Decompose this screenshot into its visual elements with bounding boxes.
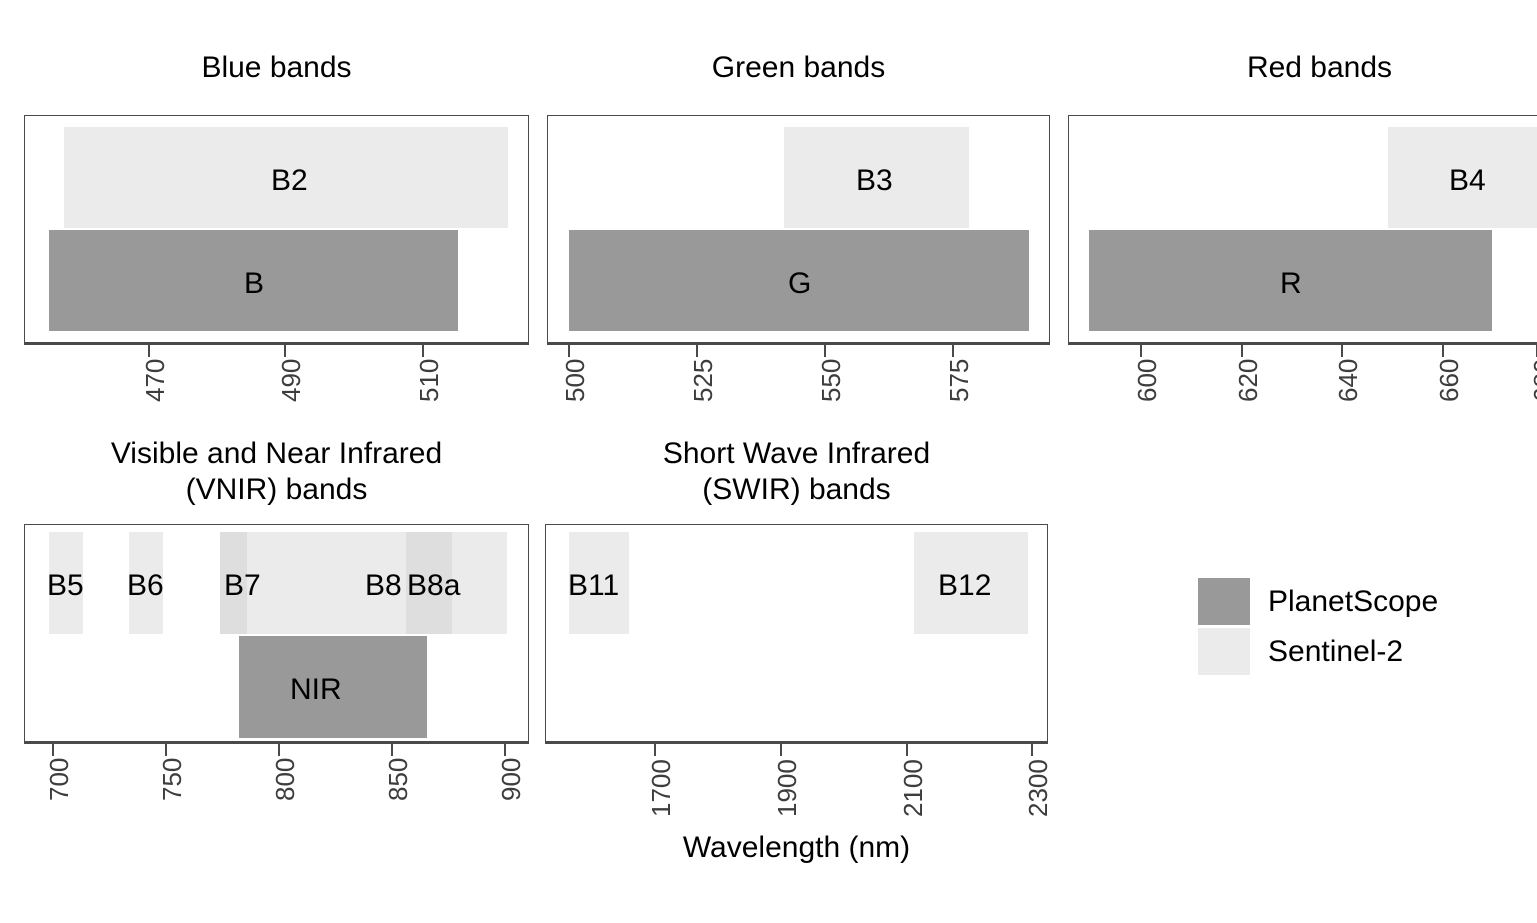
- panel-vnir-plot-area: B5 B6 B7 B8 B8a NIR: [24, 524, 529, 742]
- panel-red-plot-area: B4 R: [1068, 115, 1537, 343]
- panel-green-ticklabel-550: 550: [816, 359, 847, 402]
- panel-blue-tick-470: [148, 343, 150, 357]
- panel-green-axis-line: [547, 343, 1050, 345]
- band-label-B: B: [244, 269, 264, 299]
- panel-green-ticklabel-575: 575: [944, 359, 975, 402]
- panel-green-plot-area: B3 G: [547, 115, 1050, 343]
- band-label-B2: B2: [271, 166, 308, 196]
- panel-swir-tick-1700: [654, 742, 656, 756]
- panel-swir-tick-2100: [906, 742, 908, 756]
- panel-blue-title: Blue bands: [24, 50, 529, 86]
- panel-swir-title: Short Wave Infrared (SWIR) bands: [545, 436, 1048, 508]
- panel-vnir-tick-700: [52, 742, 54, 756]
- panel-blue-plot-area: B2 B: [24, 115, 529, 343]
- panel-swir-ticklabel-1900: 1900: [772, 759, 803, 817]
- band-label-B3: B3: [856, 166, 893, 196]
- panel-vnir-tick-850: [391, 742, 393, 756]
- panel-vnir-tick-800: [278, 742, 280, 756]
- panel-green-tick-500: [568, 343, 570, 357]
- panel-red-axis-line: [1068, 343, 1537, 345]
- panel-vnir-ticklabel-900: 900: [496, 758, 527, 801]
- panel-swir-tick-2300: [1031, 742, 1033, 756]
- panel-green-ticklabel-500: 500: [560, 359, 591, 402]
- panel-red-tick-640: [1341, 343, 1343, 357]
- panel-green-ticklabel-525: 525: [688, 359, 719, 402]
- band-label-B7: B7: [224, 571, 261, 601]
- panel-red-ticklabel-680-clipped: 680: [1528, 359, 1537, 402]
- band-label-B8a: B8a: [407, 571, 460, 601]
- panel-green-tick-575: [952, 343, 954, 357]
- panel-red-ticklabel-640: 640: [1333, 359, 1364, 402]
- panel-red-tick-600: [1140, 343, 1142, 357]
- panel-blue-ticklabel-490: 490: [276, 359, 307, 402]
- panel-swir-tick-1900: [780, 742, 782, 756]
- panel-vnir-tick-750: [165, 742, 167, 756]
- panel-blue-tick-490: [284, 343, 286, 357]
- panel-red-tick-620: [1241, 343, 1243, 357]
- band-label-NIR: NIR: [290, 675, 342, 705]
- panel-green-title: Green bands: [547, 50, 1050, 86]
- band-label-B12: B12: [938, 571, 991, 601]
- panel-swir-ticklabel-2100: 2100: [898, 759, 929, 817]
- panel-blue-axis-line: [24, 343, 529, 345]
- panel-vnir-ticklabel-750: 750: [157, 758, 188, 801]
- legend-swatch-sentinel2: [1198, 628, 1250, 675]
- legend: PlanetScope Sentinel-2: [1198, 578, 1528, 678]
- panel-swir-ticklabel-1700: 1700: [646, 759, 677, 817]
- band-label-R: R: [1280, 269, 1302, 299]
- panel-red-title: Red bands: [1068, 50, 1537, 86]
- band-label-B8: B8: [365, 571, 402, 601]
- x-axis-title: Wavelength (nm): [545, 833, 1048, 863]
- band-label-B6: B6: [127, 571, 164, 601]
- panel-swir-ticklabel-2300: 2300: [1023, 759, 1054, 817]
- panel-vnir-ticklabel-700: 700: [44, 758, 75, 801]
- panel-red-ticklabel-620: 620: [1233, 359, 1264, 402]
- panel-vnir-tick-900: [504, 742, 506, 756]
- band-label-B5: B5: [47, 571, 84, 601]
- panel-blue-tick-510: [422, 343, 424, 357]
- band-label-B4: B4: [1449, 166, 1486, 196]
- panel-red-tick-660: [1442, 343, 1444, 357]
- panel-vnir-axis-line: [24, 742, 529, 744]
- panel-red-ticklabel-600: 600: [1132, 359, 1163, 402]
- panel-swir-plot-area: B11 B12: [545, 524, 1048, 742]
- panel-green-tick-525: [696, 343, 698, 357]
- panel-swir-axis-line: [545, 742, 1048, 744]
- panel-vnir-ticklabel-850: 850: [383, 758, 414, 801]
- panel-vnir-title: Visible and Near Infrared (VNIR) bands: [24, 436, 529, 508]
- band-label-B11: B11: [568, 571, 619, 601]
- panel-blue-ticklabel-510: 510: [414, 359, 445, 402]
- legend-label-sentinel2: Sentinel-2: [1268, 637, 1403, 667]
- band-label-G: G: [788, 269, 811, 299]
- panel-red-ticklabel-660: 660: [1434, 359, 1465, 402]
- figure-root: { "figure": { "axis_title": "Wavelength …: [0, 0, 1537, 923]
- panel-vnir-ticklabel-800: 800: [270, 758, 301, 801]
- panel-blue-ticklabel-470: 470: [140, 359, 171, 402]
- panel-green-tick-550: [824, 343, 826, 357]
- legend-label-planetscope: PlanetScope: [1268, 587, 1438, 617]
- legend-swatch-planetscope: [1198, 578, 1250, 625]
